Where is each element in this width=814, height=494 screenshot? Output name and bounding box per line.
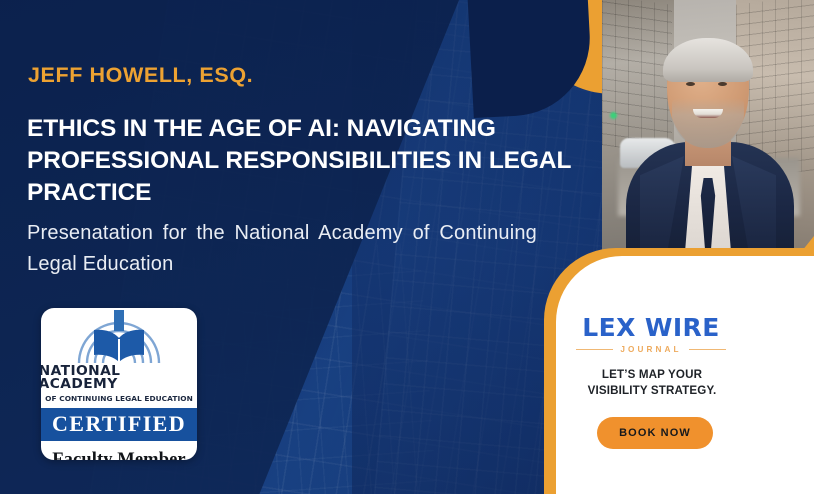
certification-badge: NATIONAL ACADEMY OF CONTINUING LEGAL EDU… — [41, 308, 197, 460]
building-windows-left — [602, 0, 672, 155]
promo-cta-text: LET’S MAP YOUR VISIBILITY STRATEGY. — [566, 367, 738, 400]
page-title: ETHICS IN THE AGE OF AI: NAVIGATING PROF… — [27, 113, 572, 209]
beard — [672, 98, 744, 148]
cta-line-1: LET’S MAP YOUR — [602, 368, 702, 381]
logo-rule-left — [576, 349, 613, 351]
smile-mouth — [693, 109, 723, 118]
open-book-icon — [41, 308, 197, 364]
book-now-button[interactable]: BOOK NOW — [597, 417, 713, 449]
eye-left — [686, 82, 695, 86]
logo-rule-right — [689, 349, 726, 351]
badge-academy-subtitle: OF CONTINUING LEGAL EDUCATION — [45, 394, 193, 403]
speaker-name: JEFF HOWELL, ESQ. — [28, 63, 253, 88]
presentation-slide: JEFF HOWELL, ESQ. ETHICS IN THE AGE OF A… — [0, 0, 814, 494]
badge-academy-name: NATIONAL ACADEMY — [41, 365, 197, 392]
presentation-subtitle: Presenatation for the National Academy o… — [27, 218, 537, 280]
promo-card-wrapper — [518, 236, 814, 494]
lex-wire-journal-row: JOURNAL — [576, 345, 726, 354]
eye-right — [718, 82, 727, 86]
badge-certified-band: CERTIFIED — [41, 408, 197, 441]
badge-faculty-member: Faculty Member — [52, 450, 185, 460]
cta-line-2: VISIBILITY STRATEGY. — [588, 384, 717, 397]
traffic-light-icon — [610, 112, 617, 119]
lex-wire-wordmark: LEX WIRE — [576, 315, 726, 340]
lex-wire-journal-label: JOURNAL — [620, 345, 681, 354]
speaker-headshot-photo — [602, 0, 814, 252]
lex-wire-logo: LEX WIRE JOURNAL — [576, 315, 726, 354]
